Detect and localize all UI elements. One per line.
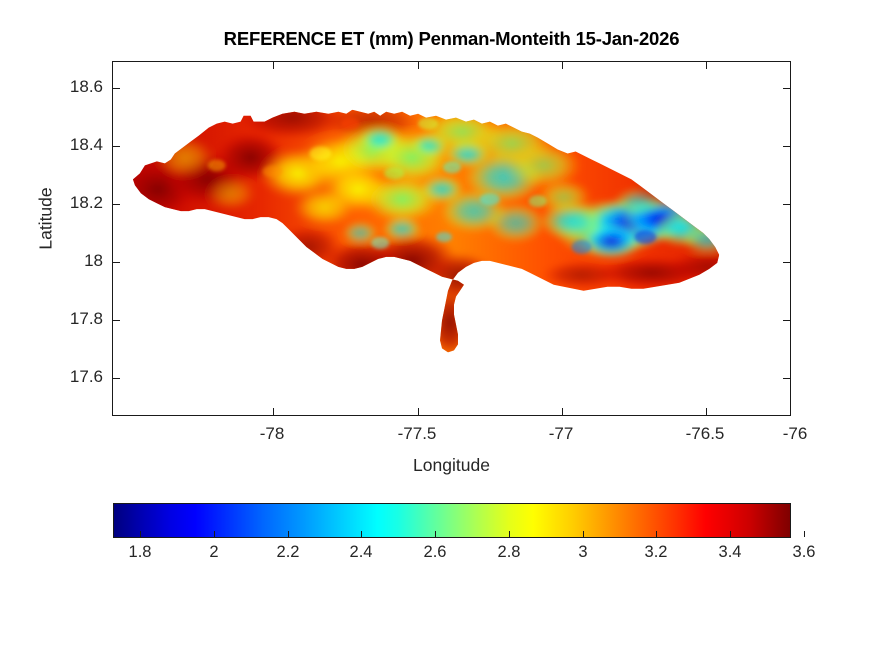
cblabel-2: 2.2 [277, 543, 300, 562]
yticklabel-17_6: 17.6 [3, 367, 103, 387]
cblabel-0: 1.8 [129, 543, 152, 562]
cblabel-6: 3 [578, 543, 587, 562]
xtick--77 [562, 408, 563, 415]
ytick-right-18_2 [783, 204, 790, 205]
colorbar[interactable]: 1.8 2 2.2 2.4 2.6 2.8 3 3.2 3.4 3.6 [113, 503, 791, 538]
ytick-right-17_8 [783, 320, 790, 321]
ytick-18 [113, 262, 120, 263]
xticklabel-4: -76 [783, 424, 808, 444]
cblabel-3: 2.4 [350, 543, 373, 562]
y-axis-label: Latitude [36, 159, 57, 279]
cbtick-2 [214, 531, 215, 537]
cbtick-3 [583, 531, 584, 537]
ytick-17_8 [113, 320, 120, 321]
ytick-18_4 [113, 146, 120, 147]
cblabel-1: 2 [209, 543, 218, 562]
cblabel-4: 2.6 [424, 543, 447, 562]
cbtick-1_8 [140, 531, 141, 537]
figure-canvas: REFERENCE ET (mm) Penman-Monteith 15-Jan… [0, 0, 875, 656]
cblabel-5: 2.8 [498, 543, 521, 562]
xtick-top-78 [273, 62, 274, 69]
cbtick-3_6 [804, 531, 805, 537]
cbtick-2_2 [288, 531, 289, 537]
ytick-right-18_6 [783, 88, 790, 89]
xticklabel-1: -77.5 [398, 424, 437, 444]
cblabel-8: 3.4 [719, 543, 742, 562]
xtick-top-765 [706, 62, 707, 69]
map-axes[interactable] [112, 61, 791, 416]
xtick--78 [273, 408, 274, 415]
ytick-right-17_6 [783, 378, 790, 379]
page-title: REFERENCE ET (mm) Penman-Monteith 15-Jan… [112, 28, 791, 50]
ytick-18_2 [113, 204, 120, 205]
xticklabel-2: -77 [549, 424, 574, 444]
ytick-18_6 [113, 88, 120, 89]
ytick-right-18_4 [783, 146, 790, 147]
cblabel-9: 3.6 [793, 543, 816, 562]
ytick-right-18 [783, 262, 790, 263]
yticklabel-17_8: 17.8 [3, 309, 103, 329]
xtick-top-77 [562, 62, 563, 69]
xticklabel-0: -78 [260, 424, 285, 444]
cbtick-2_6 [435, 531, 436, 537]
xtick--77_5 [418, 408, 419, 415]
cbtick-3_4 [730, 531, 731, 537]
yticklabel-18_6: 18.6 [3, 77, 103, 97]
xticklabel-3: -76.5 [686, 424, 725, 444]
cbtick-2_8 [509, 531, 510, 537]
cbtick-2_4 [361, 531, 362, 537]
et-heatmap-map [113, 62, 790, 415]
cblabel-7: 3.2 [645, 543, 668, 562]
xtick--76_5 [706, 408, 707, 415]
ytick-17_6 [113, 378, 120, 379]
yticklabel-18_4: 18.4 [3, 135, 103, 155]
cbtick-3_2 [656, 531, 657, 537]
xtick-top-775 [418, 62, 419, 69]
x-axis-label: Longitude [112, 455, 791, 476]
